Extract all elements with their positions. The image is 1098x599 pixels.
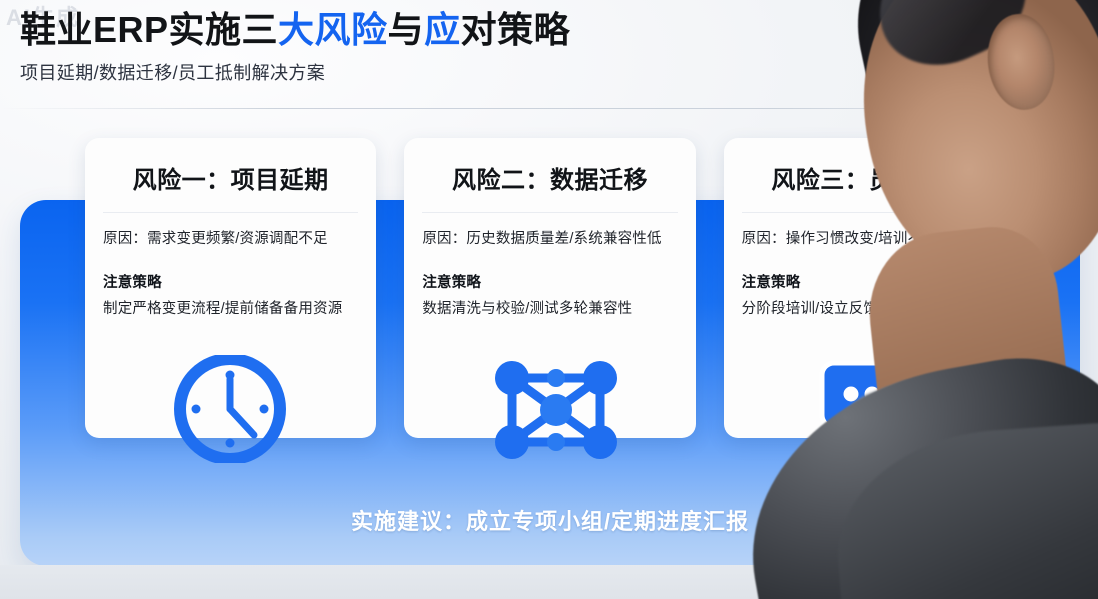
implementation-suggestion-banner: 实施建议：成立专项小组/定期进度汇报 xyxy=(20,498,1080,542)
title-part-3: 与 xyxy=(388,9,425,50)
title-part-1: 鞋业ERP实施三 xyxy=(20,9,278,50)
risk-card-2-strategy-label: 注意策略 xyxy=(422,271,677,292)
slide-canvas: AI生成 鞋业ERP实施三大风险与应对策略 项目延期/数据迁移/员工抵制解决方案… xyxy=(0,0,1098,599)
title-part-5: 对策略 xyxy=(461,9,571,50)
clock-icon xyxy=(170,355,290,468)
risk-card-2-title: 风险二：数据迁移 xyxy=(404,138,695,212)
risk-card-3-reason: 原因：操作习惯改变/培训不足 xyxy=(742,229,997,249)
risk-card-2-strategy: 数据清洗与校验/测试多轮兼容性 xyxy=(422,299,677,319)
page-subtitle: 项目延期/数据迁移/员工抵制解决方案 xyxy=(20,60,740,86)
wall-seam-line xyxy=(0,108,1098,109)
risk-card-1-reason: 原因：需求变更频繁/资源调配不足 xyxy=(103,229,358,249)
risk-card-3-title: 风险三：员工抵制 xyxy=(724,138,1015,212)
risk-card-1-strategy-label: 注意策略 xyxy=(103,271,358,292)
title-part-4-highlight: 应 xyxy=(424,9,461,50)
chat-bubbles-icon xyxy=(818,355,946,468)
headline-block: 鞋业ERP实施三大风险与应对策略 项目延期/数据迁移/员工抵制解决方案 xyxy=(20,8,740,86)
risk-card-3-strategy: 分阶段培训/设立反馈渠道 xyxy=(742,299,997,319)
network-nodes-icon xyxy=(492,358,620,467)
risk-card-1-strategy: 制定严格变更流程/提前储备备用资源 xyxy=(103,299,358,319)
risk-card-3-strategy-label: 注意策略 xyxy=(742,271,997,292)
floor-line xyxy=(0,565,1098,599)
risk-card-2-reason: 原因：历史数据质量差/系统兼容性低 xyxy=(422,229,677,249)
title-part-2-highlight: 大风险 xyxy=(278,9,388,50)
risk-card-1-title: 风险一：项目延期 xyxy=(85,138,376,212)
page-title: 鞋业ERP实施三大风险与应对策略 xyxy=(20,8,740,52)
